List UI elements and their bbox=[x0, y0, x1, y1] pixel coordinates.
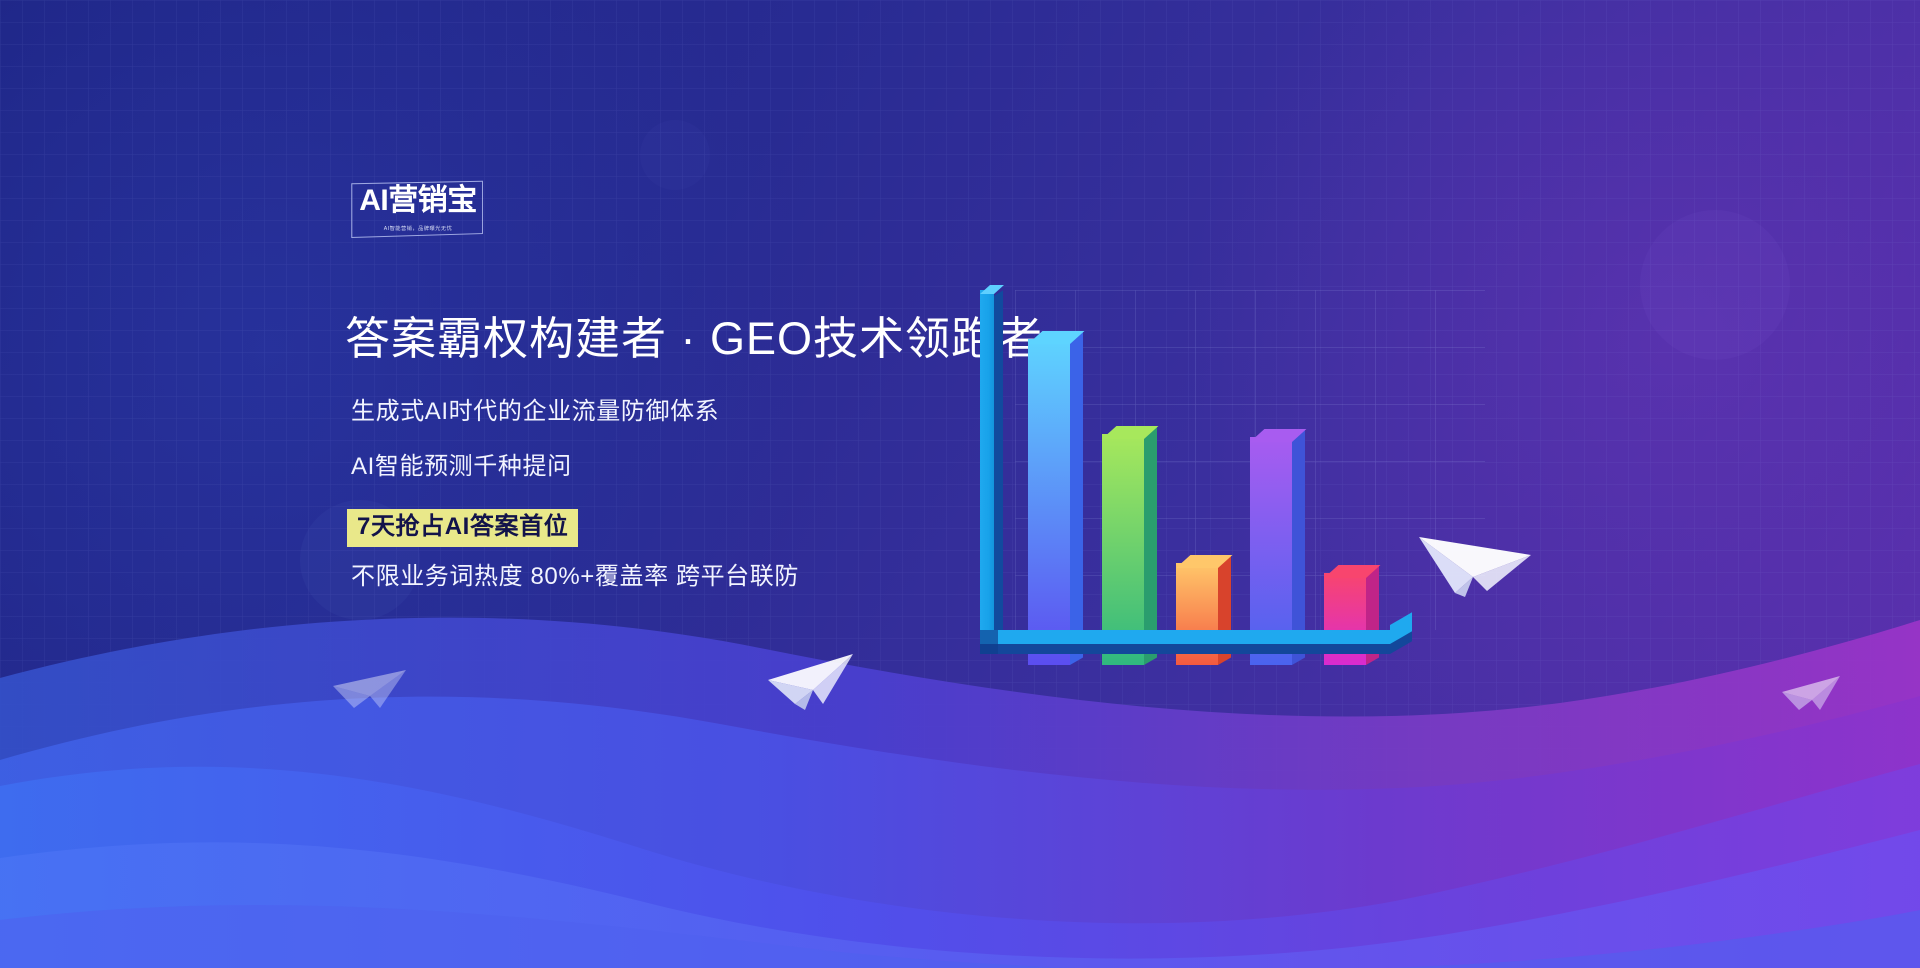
chart-base-corner bbox=[980, 630, 998, 654]
hero-banner: AI营销宝 AI智能营销，品牌曝光无忧 答案霸权构建者 · GEO技术领跑者 生… bbox=[0, 0, 1920, 968]
paper-plane-left-icon bbox=[330, 660, 412, 722]
background-waves bbox=[0, 528, 1920, 968]
decorative-circle bbox=[640, 120, 710, 190]
subtitle-line-1: 生成式AI时代的企业流量防御体系 bbox=[351, 400, 719, 424]
paper-plane-right-icon bbox=[1415, 515, 1535, 605]
subtitle-line-4: 不限业务词热度 80%+覆盖率 跨平台联防 bbox=[351, 565, 799, 589]
subtitle-line-2: AI智能预测千种提问 bbox=[351, 455, 572, 479]
paper-plane-mid-icon bbox=[765, 648, 860, 720]
chart-base-front bbox=[980, 644, 1390, 654]
chart-y-axis-side bbox=[994, 290, 1003, 641]
paper-plane-far-right-icon bbox=[1780, 672, 1846, 722]
brand-logo[interactable]: AI营销宝 AI智能营销，品牌曝光无忧 bbox=[352, 182, 484, 236]
bar-chart-illustration bbox=[975, 290, 1495, 665]
page-title: 答案霸权构建者 · GEO技术领跑者 bbox=[345, 316, 1043, 361]
chart-base-top bbox=[980, 630, 1390, 644]
chart-bar-side bbox=[1070, 331, 1083, 665]
chart-bar-face bbox=[1028, 339, 1070, 665]
decorative-circle bbox=[1640, 210, 1790, 360]
highlight-badge: 7天抢占AI答案首位 bbox=[347, 509, 578, 547]
chart-y-axis bbox=[980, 290, 994, 635]
logo-tagline: AI智能营销，品牌曝光无忧 bbox=[355, 224, 480, 232]
logo-wordmark: AI营销宝 bbox=[352, 186, 484, 216]
chart-bar bbox=[1028, 339, 1070, 665]
